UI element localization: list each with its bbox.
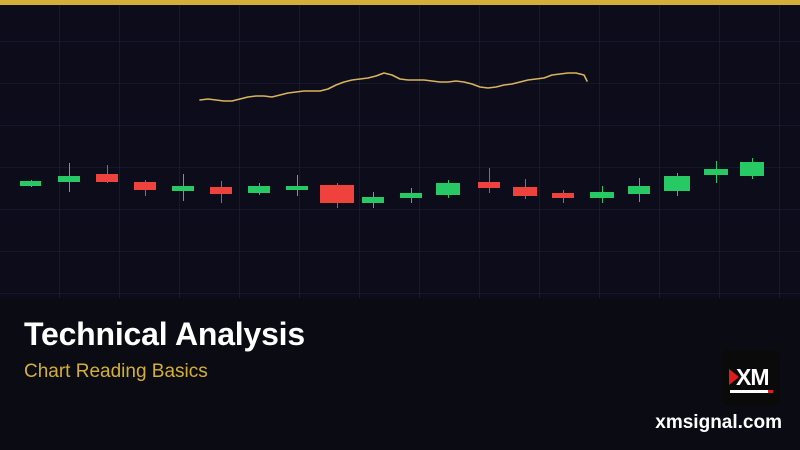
candle-body [628,186,650,194]
candle-body [362,197,384,203]
candle-body [248,186,270,193]
candle-body [664,176,690,191]
xm-logo-text: XM [736,364,778,390]
candle-body [552,193,574,198]
candle-body [740,162,764,176]
candle-body [134,182,156,190]
candle-body [58,176,80,182]
candle-body [286,186,308,190]
candle-body [400,193,422,198]
candle-body [436,183,460,195]
xm-logo-underline-accent [768,390,773,393]
candle-wick [489,168,490,193]
page-subtitle: Chart Reading Basics [24,359,305,385]
site-url: xmsignal.com [0,412,782,434]
candle-body [172,186,194,191]
candle-body [210,187,232,194]
candle-body [20,181,41,186]
title-block: Technical Analysis Chart Reading Basics [24,315,305,385]
candle-body [96,174,118,182]
xm-logo: XM [722,350,780,406]
candle-body [320,185,354,203]
candle-body [513,187,537,196]
xm-logo-inner: XM [722,350,780,406]
candlestick-chart-panel [0,5,800,298]
xm-logo-underline [730,390,772,393]
candle-body [590,192,614,198]
candle-body [704,169,728,175]
screenshot-root: Technical Analysis Chart Reading Basics … [0,0,800,450]
page-title: Technical Analysis [24,315,305,353]
candle-body [478,182,500,188]
candles-layer [0,5,800,298]
